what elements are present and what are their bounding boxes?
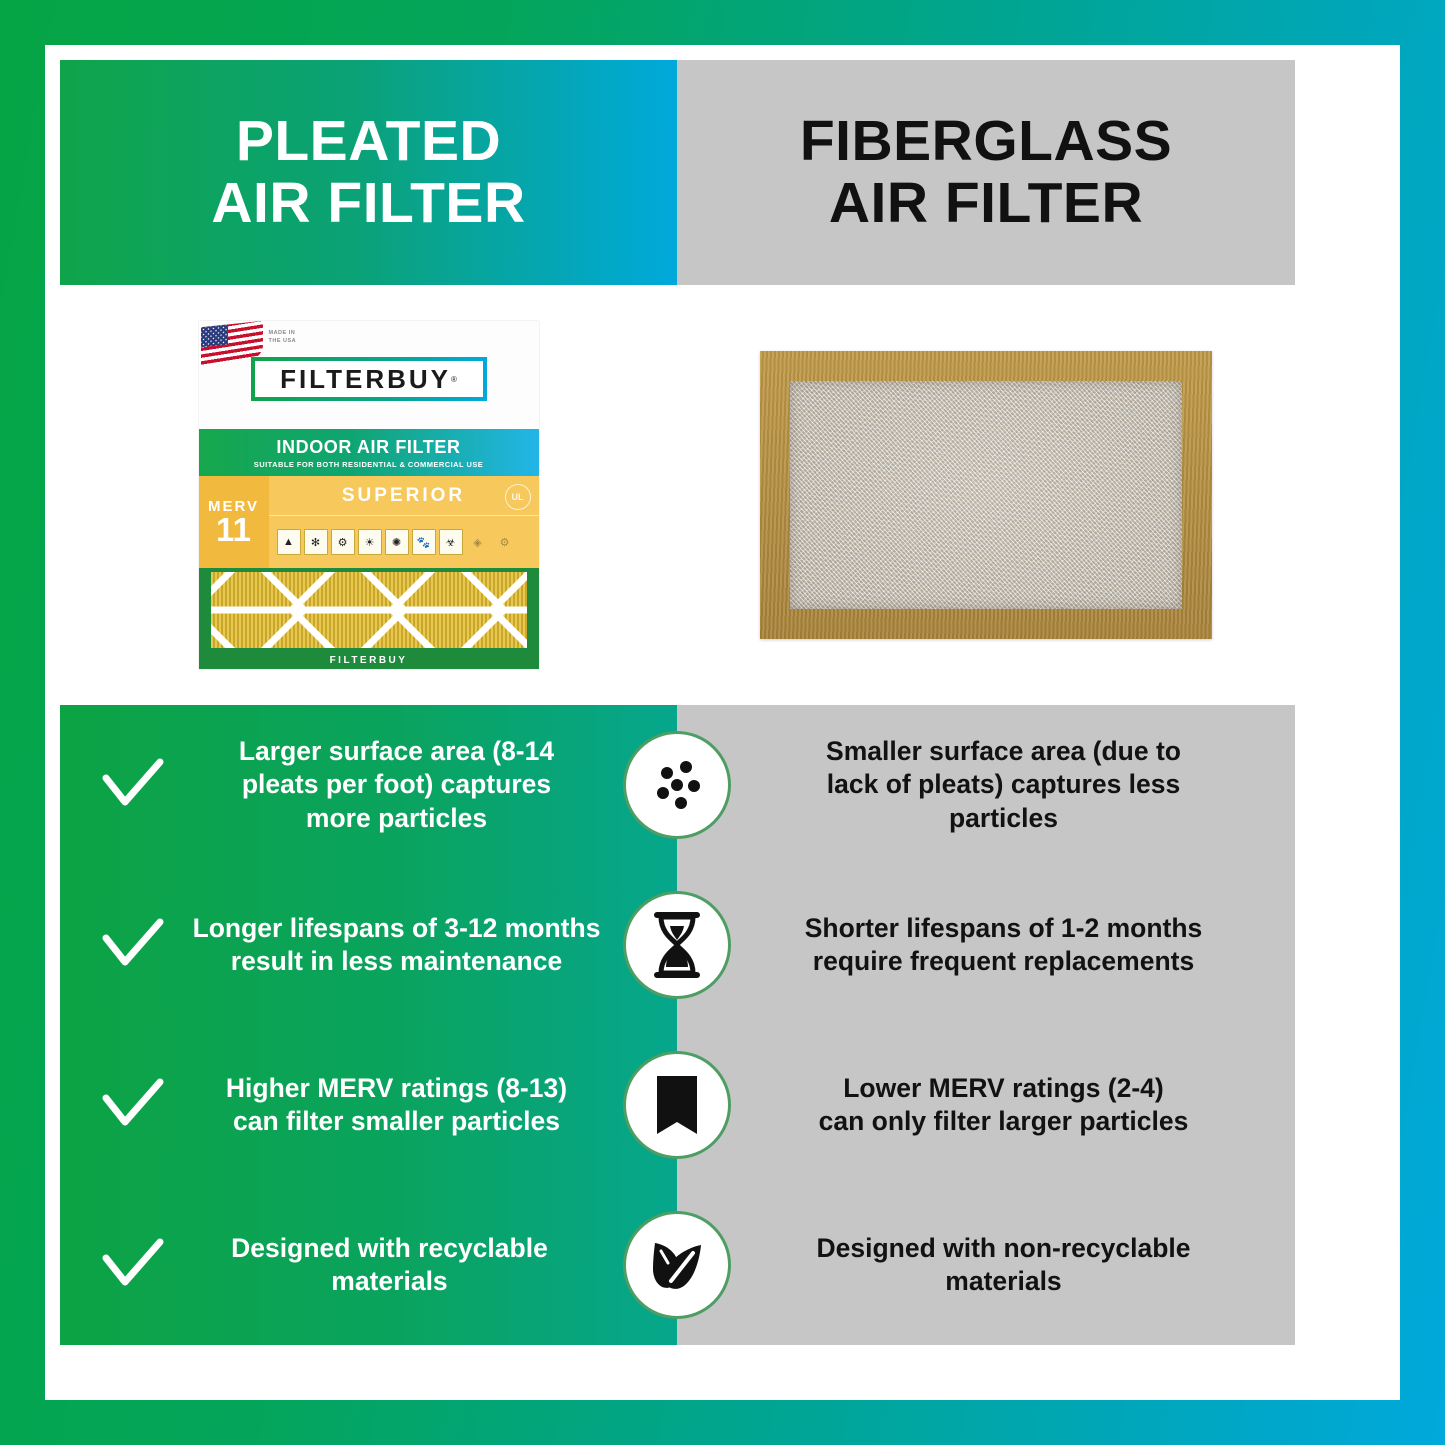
box-footer-brand: FILTERBUY xyxy=(199,655,539,666)
certification-mark-icon: UL xyxy=(505,484,531,510)
hourglass-icon xyxy=(623,891,731,999)
smoke-icon: ☣ xyxy=(439,529,463,555)
comparison-band: Larger surface area (8-14 pleats per foo… xyxy=(60,705,1295,1345)
check-icon xyxy=(100,912,166,978)
check-icon xyxy=(100,1072,166,1138)
comparison-infographic: PLEATED AIR FILTER FIBERGLASS AIR FILTER… xyxy=(0,0,1445,1445)
brand-trademark-icon: ® xyxy=(451,375,457,384)
row-right-cell: Designed with non-recyclable materials xyxy=(677,1232,1294,1299)
row-left-text: Designed with recyclable materials xyxy=(172,1232,663,1299)
fiberglass-product-cell xyxy=(677,285,1294,705)
tier-label: SUPERIOR xyxy=(342,485,465,507)
box-green-pleat-section: FILTERBUY xyxy=(199,568,539,669)
box-teal-band: INDOOR AIR FILTER SUITABLE FOR BOTH RESI… xyxy=(199,429,539,476)
pleat-media xyxy=(211,572,527,648)
leaf-icon xyxy=(623,1211,731,1319)
row-left-cell: Designed with recyclable materials xyxy=(60,1232,677,1299)
comparison-row: Longer lifespans of 3-12 months result i… xyxy=(60,865,1295,1025)
virus-icon: ⚙ xyxy=(331,529,355,555)
row-left-cell: Larger surface area (8-14 pleats per foo… xyxy=(60,735,677,835)
row-right-cell: Shorter lifespans of 1-2 months require … xyxy=(677,912,1294,979)
odor-icon: ◈ xyxy=(466,529,490,555)
row-left-cell: Higher MERV ratings (8-13) can filter sm… xyxy=(60,1072,677,1139)
row-left-text: Higher MERV ratings (8-13) can filter sm… xyxy=(172,1072,663,1139)
row-right-cell: Lower MERV ratings (2-4) can only filter… xyxy=(677,1072,1294,1139)
comparison-row: Larger surface area (8-14 pleats per foo… xyxy=(60,705,1295,865)
pollen-icon: ✺ xyxy=(385,529,409,555)
comparison-row: Designed with recyclable materials Desig… xyxy=(60,1185,1295,1345)
tier-row: SUPERIOR xyxy=(269,476,539,516)
product-image-band: MADE IN THE USA FILTERBUY® INDOOR AIR FI… xyxy=(60,285,1295,705)
pleated-header-title: PLEATED AIR FILTER xyxy=(211,111,525,234)
bookmark-icon xyxy=(623,1051,731,1159)
merv-badge: MERV 11 xyxy=(199,476,269,568)
check-icon xyxy=(100,752,166,818)
comparison-row: Higher MERV ratings (8-13) can filter sm… xyxy=(60,1025,1295,1185)
comparison-rows: Larger surface area (8-14 pleats per foo… xyxy=(60,705,1295,1345)
indoor-air-filter-label: INDOOR AIR FILTER xyxy=(276,437,460,458)
header-row: PLEATED AIR FILTER FIBERGLASS AIR FILTER xyxy=(60,60,1295,285)
fiberglass-header-title: FIBERGLASS AIR FILTER xyxy=(800,111,1172,234)
mold-icon: ☀ xyxy=(358,529,382,555)
particles-icon xyxy=(623,731,731,839)
pleated-product-cell: MADE IN THE USA FILTERBUY® INDOOR AIR FI… xyxy=(60,285,677,705)
row-right-text: Designed with non-recyclable materials xyxy=(816,1232,1190,1299)
fiberglass-mesh xyxy=(790,381,1182,609)
brand-name: FILTERBUY xyxy=(280,364,451,395)
made-in-usa-label: MADE IN THE USA xyxy=(269,329,297,346)
suitable-use-label: SUITABLE FOR BOTH RESIDENTIAL & COMMERCI… xyxy=(254,460,483,469)
row-right-text: Lower MERV ratings (2-4) can only filter… xyxy=(819,1072,1189,1139)
pet-dander-icon: 🐾 xyxy=(412,529,436,555)
row-right-text: Smaller surface area (due to lack of ple… xyxy=(826,735,1181,835)
header-fiberglass-air-filter: FIBERGLASS AIR FILTER xyxy=(677,60,1295,285)
box-yellow-section: MERV 11 SUPERIOR UL ▲ ✻ ⚙ ☀ ✺ 🐾 ☣ xyxy=(199,476,539,568)
row-right-cell: Smaller surface area (due to lack of ple… xyxy=(677,735,1294,835)
merv-value: 11 xyxy=(216,513,251,546)
fiber-icon: ⚙ xyxy=(493,529,517,555)
row-right-text: Shorter lifespans of 1-2 months require … xyxy=(805,912,1203,979)
check-icon xyxy=(100,1232,166,1298)
support-diamond xyxy=(487,572,527,648)
dust-icon: ▲ xyxy=(277,529,301,555)
row-left-cell: Longer lifespans of 3-12 months result i… xyxy=(60,912,677,979)
row-left-text: Larger surface area (8-14 pleats per foo… xyxy=(172,735,663,835)
filtration-icon-strip: ▲ ✻ ⚙ ☀ ✺ 🐾 ☣ ◈ ⚙ xyxy=(277,522,532,562)
header-pleated-air-filter: PLEATED AIR FILTER xyxy=(60,60,677,285)
pleated-filter-product-image: MADE IN THE USA FILTERBUY® INDOOR AIR FI… xyxy=(199,321,539,669)
fiberglass-filter-product-image xyxy=(760,351,1212,639)
brand-frame: FILTERBUY® xyxy=(251,357,487,401)
bacteria-icon: ✻ xyxy=(304,529,328,555)
row-left-text: Longer lifespans of 3-12 months result i… xyxy=(172,912,663,979)
